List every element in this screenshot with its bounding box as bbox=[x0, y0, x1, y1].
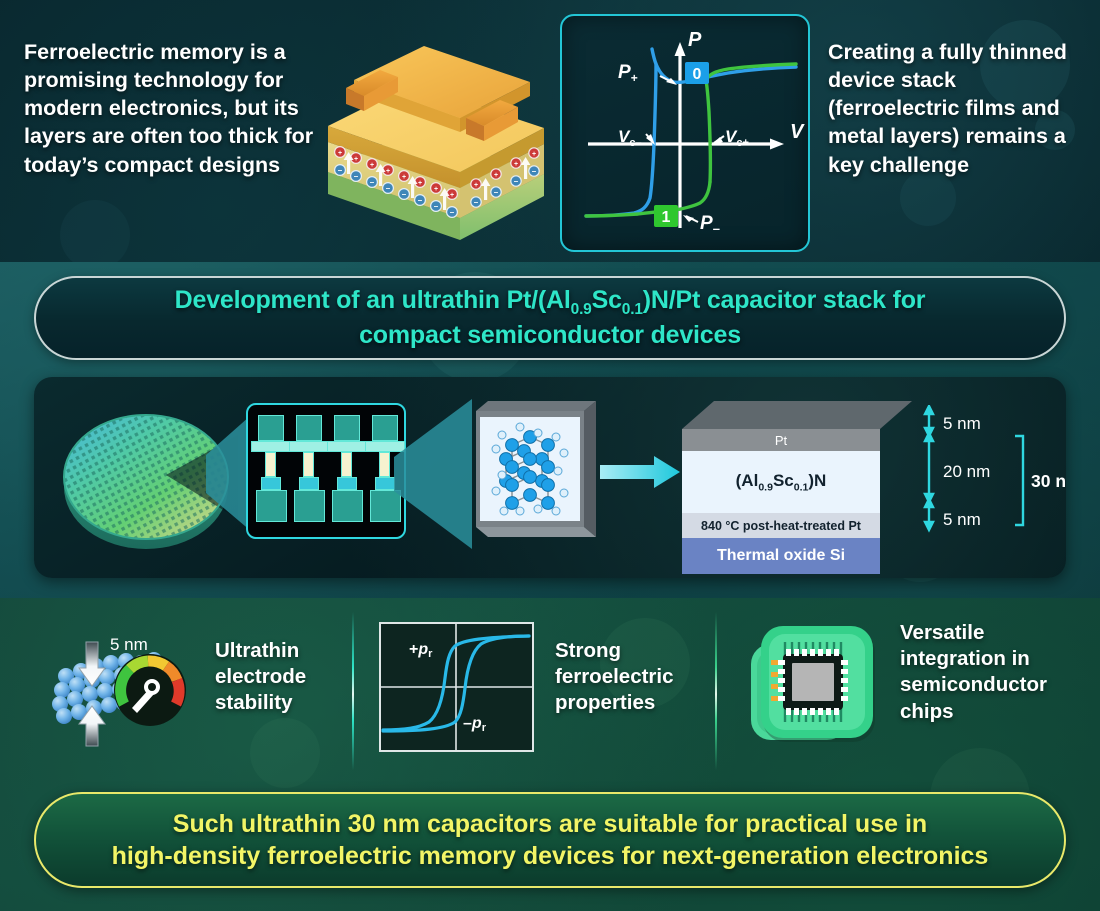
state-0-label: 0 bbox=[693, 66, 702, 83]
feature-label-strong-ferroelectric-properties: Strong ferroelectric properties bbox=[555, 638, 705, 717]
svg-text:–: – bbox=[494, 188, 499, 197]
cap-pillar bbox=[379, 452, 390, 477]
cap-electrode-bar bbox=[251, 441, 291, 452]
axis-label-p: P bbox=[688, 29, 702, 51]
label-minus-pr: –pr bbox=[463, 715, 487, 734]
thickness-dimension-callouts: 5 nm 20 nm 5 nm 30 nm bbox=[919, 405, 1066, 550]
svg-text:–: – bbox=[386, 184, 391, 193]
top-left-statement: Ferroelectric memory is a promising tech… bbox=[24, 38, 324, 179]
capacitor-cell bbox=[296, 415, 322, 522]
conclusion-text: Such ultrathin 30 nm capacitors are suit… bbox=[82, 808, 1019, 873]
cap-top-block bbox=[296, 415, 322, 441]
label-p-plus: P+ bbox=[618, 62, 638, 85]
process-arrow-icon bbox=[600, 455, 680, 489]
svg-text:+: + bbox=[338, 150, 342, 157]
label-vc-minus: Vc– bbox=[618, 127, 642, 149]
bokeh-circle bbox=[60, 200, 130, 270]
svg-text:+: + bbox=[370, 162, 374, 169]
ferroelectric-stack-illustration: +++ +++ ++ ––– ––– –– bbox=[320, 22, 552, 248]
dim-label-5nm-top: 5 nm bbox=[943, 414, 981, 433]
label-vc-plus: Vc+ bbox=[725, 127, 749, 149]
stack-layer-pt-bottom-label: 840 °C post-heat-treated Pt bbox=[701, 519, 861, 533]
stack-layer-pt-top-label: Pt bbox=[775, 433, 787, 448]
svg-text:+: + bbox=[402, 174, 406, 181]
capacitor-cell bbox=[334, 415, 360, 522]
title-sub-0-9: 0.9 bbox=[571, 301, 592, 318]
process-flow-panel: Pt (Al0.9Sc0.1)N 840 °C post-heat-treate… bbox=[34, 377, 1066, 578]
label-plus-pr: +pr bbox=[409, 641, 433, 660]
capacitor-array-panel bbox=[246, 403, 406, 539]
svg-text:–: – bbox=[354, 172, 359, 181]
svg-text:+: + bbox=[354, 156, 358, 163]
cap-base-block bbox=[294, 490, 325, 522]
svg-text:–: – bbox=[514, 177, 519, 186]
cap-base-block bbox=[256, 490, 287, 522]
svg-text:+: + bbox=[532, 151, 536, 158]
svg-text:–: – bbox=[402, 190, 407, 199]
title-sub-0-1: 0.1 bbox=[622, 301, 643, 318]
cap-electrode-bar bbox=[289, 441, 329, 452]
svg-text:–: – bbox=[418, 196, 423, 205]
crystal-lattice-panel bbox=[468, 397, 596, 545]
svg-text:–: – bbox=[338, 166, 343, 175]
title-line2: compact semiconductor devices bbox=[359, 321, 741, 349]
pv-hysteresis-panel: P+ 0 1 P– Vc– Vc+ P V bbox=[560, 14, 810, 252]
stack-layer-alscn: (Al0.9Sc0.1)N bbox=[682, 451, 880, 513]
cap-mid-block bbox=[299, 477, 319, 490]
hysteresis-loop-chart: +pr –pr bbox=[381, 624, 532, 750]
bokeh-circle bbox=[250, 718, 320, 788]
microchip-icon bbox=[745, 616, 890, 761]
svg-text:+: + bbox=[386, 168, 390, 175]
ferroelectric-hysteresis-icon: +pr –pr bbox=[379, 622, 534, 752]
cap-base-block bbox=[332, 490, 363, 522]
cap-top-block bbox=[258, 415, 284, 441]
conclusion-banner: Such ultrathin 30 nm capacitors are suit… bbox=[34, 792, 1066, 888]
cap-pillar bbox=[341, 452, 352, 477]
capacitor-cell bbox=[258, 415, 284, 522]
pv-hysteresis-chart: P+ 0 1 P– Vc– Vc+ P V bbox=[562, 16, 812, 254]
svg-text:–: – bbox=[474, 198, 479, 207]
cap-top-block bbox=[334, 415, 360, 441]
conclusion-line2: high-density ferroelectric memory device… bbox=[112, 842, 989, 870]
dim-label-20nm: 20 nm bbox=[943, 462, 990, 481]
svg-text:–: – bbox=[434, 202, 439, 211]
atomic-layer-with-gauge-icon: 5 nm bbox=[48, 628, 223, 753]
top-right-statement: Creating a fully thinned device stack (f… bbox=[828, 38, 1078, 179]
feature-label-versatile-integration: Versatile integration in semiconductor c… bbox=[900, 620, 1080, 725]
feature-divider-1 bbox=[352, 612, 354, 770]
main-title-banner: Development of an ultrathin Pt/(Al0.9Sc0… bbox=[34, 276, 1066, 360]
svg-text:+: + bbox=[450, 192, 454, 199]
cap-pillar bbox=[265, 452, 276, 477]
cap-electrode-bar bbox=[327, 441, 367, 452]
dim-label-5nm-bottom: 5 nm bbox=[943, 510, 981, 529]
cap-mid-block bbox=[375, 477, 395, 490]
stack-layer-pt-bottom: 840 °C post-heat-treated Pt bbox=[682, 513, 880, 538]
svg-text:+: + bbox=[418, 180, 422, 187]
state-1-label: 1 bbox=[662, 209, 671, 226]
label-p-minus: P– bbox=[700, 213, 720, 236]
stack-layer-pt-top: Pt bbox=[682, 429, 880, 451]
dim-label-total-30nm: 30 nm bbox=[1031, 471, 1066, 491]
svg-text:–: – bbox=[370, 178, 375, 187]
device-stack-diagram: Pt (Al0.9Sc0.1)N 840 °C post-heat-treate… bbox=[682, 399, 912, 554]
stack-layer-substrate-label: Thermal oxide Si bbox=[717, 547, 845, 565]
svg-text:–: – bbox=[532, 167, 537, 176]
svg-text:+: + bbox=[514, 161, 518, 168]
svg-text:+: + bbox=[474, 182, 478, 189]
title-line1-mid: Sc bbox=[592, 286, 622, 314]
infographic-canvas: Ferroelectric memory is a promising tech… bbox=[0, 0, 1100, 911]
stack-layer-alscn-label: (Al0.9Sc0.1)N bbox=[736, 471, 827, 493]
conclusion-line1: Such ultrathin 30 nm capacitors are suit… bbox=[173, 810, 927, 838]
main-title-text: Development of an ultrathin Pt/(Al0.9Sc0… bbox=[137, 285, 964, 350]
zoom-connector-wedge-right bbox=[394, 399, 472, 549]
svg-text:+: + bbox=[494, 172, 498, 179]
svg-text:–: – bbox=[450, 208, 455, 217]
feature-label-ultrathin-electrode-stability: Ultrathin electrode stability bbox=[215, 638, 345, 717]
stack-layer-substrate: Thermal oxide Si bbox=[682, 538, 880, 574]
feature-divider-2 bbox=[715, 612, 717, 770]
feature-annotation-5nm: 5 nm bbox=[110, 635, 148, 654]
cap-mid-block bbox=[337, 477, 357, 490]
svg-text:+: + bbox=[434, 186, 438, 193]
axis-label-v: V bbox=[790, 121, 805, 143]
title-line1-before: Development of an ultrathin Pt/(Al bbox=[175, 286, 571, 314]
title-line1-after: )N/Pt capacitor stack for bbox=[643, 286, 926, 314]
cap-pillar bbox=[303, 452, 314, 477]
cap-mid-block bbox=[261, 477, 281, 490]
